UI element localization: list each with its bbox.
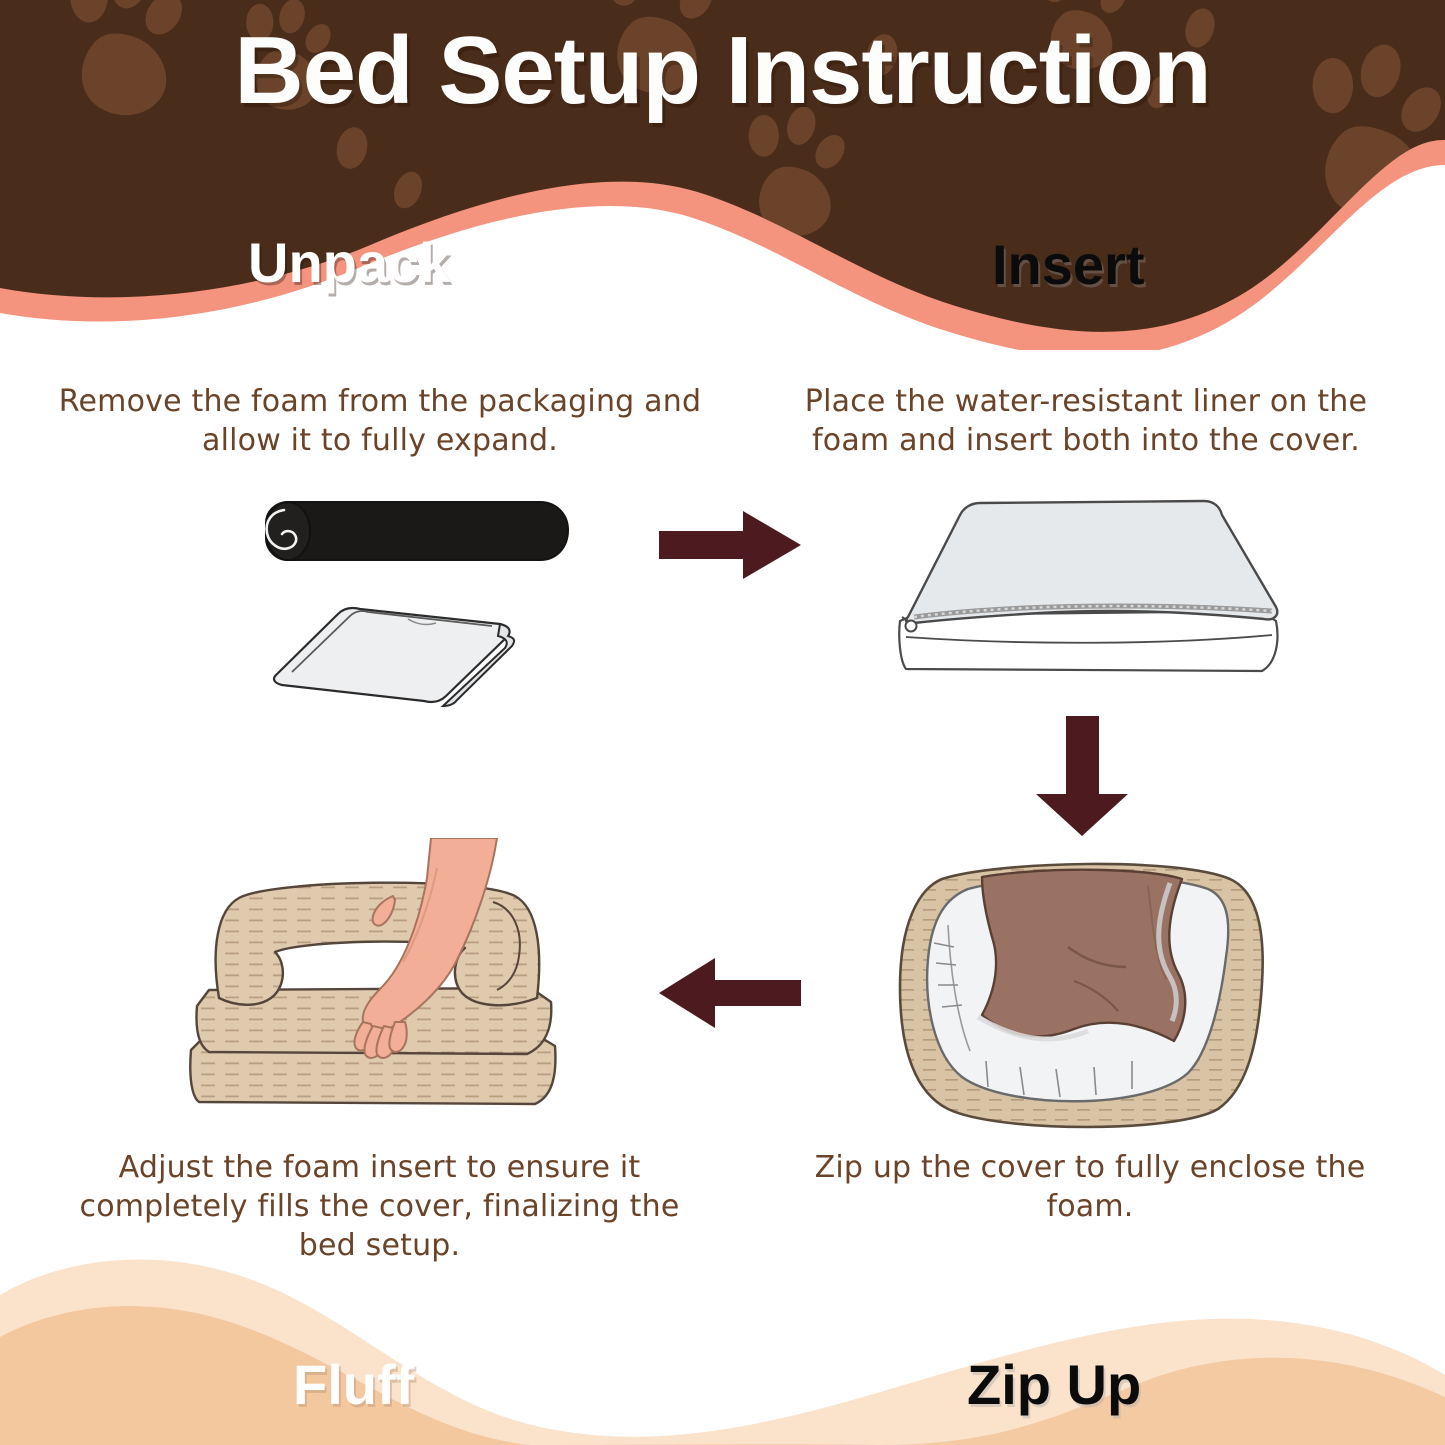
arrow-right-icon bbox=[655, 505, 805, 585]
step-badge-unpack: Unpack bbox=[248, 230, 450, 295]
step-badge-fluff: Fluff bbox=[293, 1352, 414, 1417]
step-badge-insert: Insert bbox=[992, 232, 1145, 297]
caption-insert: Place the water-resistant liner on the f… bbox=[762, 382, 1410, 460]
footer-band bbox=[0, 1255, 1445, 1445]
illustration-zippered-cushion bbox=[880, 485, 1300, 690]
infographic-canvas: Bed Setup Instruction Unpack Insert Remo… bbox=[0, 0, 1445, 1445]
rolled-foam-icon bbox=[266, 502, 568, 560]
caption-zipup: Zip up the cover to fully enclose the fo… bbox=[790, 1148, 1390, 1226]
folded-liner-icon bbox=[274, 608, 514, 706]
bed-bolster bbox=[216, 883, 540, 1006]
page-title: Bed Setup Instruction bbox=[0, 16, 1445, 126]
arrow-down-icon bbox=[1030, 712, 1135, 840]
illustration-rolled-foam-and-liner bbox=[240, 490, 620, 720]
caption-fluff: Adjust the foam insert to ensure it comp… bbox=[52, 1148, 707, 1265]
arrow-left-icon bbox=[655, 952, 805, 1034]
step-badge-zipup: Zip Up bbox=[967, 1352, 1141, 1417]
illustration-open-bed-cover bbox=[878, 855, 1288, 1135]
caption-unpack: Remove the foam from the packaging and a… bbox=[55, 382, 705, 460]
illustration-hand-fluffing-bed bbox=[175, 838, 620, 1143]
foam-insert-brown bbox=[982, 870, 1185, 1041]
